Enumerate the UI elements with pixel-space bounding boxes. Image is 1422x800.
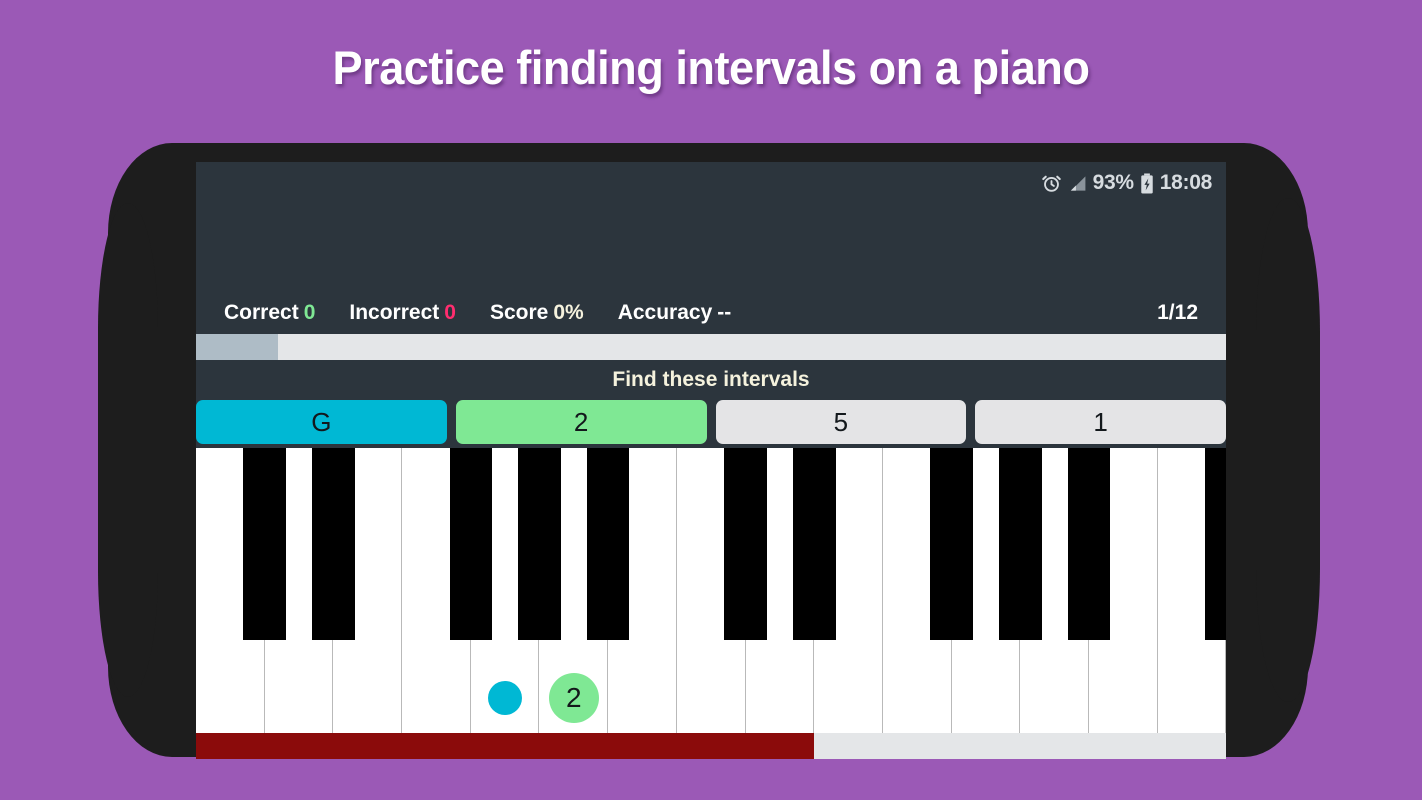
piano-black-key[interactable]	[518, 448, 561, 640]
interval-chip-1-label: G	[311, 407, 331, 438]
status-bar: 93% 18:08	[196, 162, 1226, 204]
root-note-marker	[488, 681, 522, 715]
battery-charging-icon	[1140, 173, 1154, 194]
stat-score: Score0%	[490, 301, 584, 325]
progress-bar	[196, 334, 1226, 360]
stat-score-label: Score	[490, 301, 548, 324]
interval-chip-4-label: 1	[1093, 407, 1107, 438]
stat-correct-label: Correct	[224, 301, 299, 324]
signal-bars-icon	[1068, 174, 1087, 193]
interval-chip-1[interactable]: G	[196, 400, 447, 444]
stat-accuracy-value: --	[717, 301, 731, 324]
stat-incorrect: Incorrect0	[349, 301, 456, 325]
piano-keyboard[interactable]: 2	[196, 448, 1226, 733]
battery-percentage: 93%	[1093, 171, 1134, 195]
interval-chip-3-label: 5	[834, 407, 848, 438]
piano-black-key[interactable]	[587, 448, 630, 640]
stat-incorrect-label: Incorrect	[349, 301, 439, 324]
bottom-progress-bar	[196, 733, 1226, 759]
piano-black-key[interactable]	[312, 448, 355, 640]
bottom-progress-fill	[196, 733, 814, 759]
piano-black-key[interactable]	[724, 448, 767, 640]
stat-accuracy: Accuracy--	[618, 301, 732, 325]
phone-screen: 93% 18:08 Correct0 Incorrect0 Score0%	[196, 162, 1226, 759]
stat-score-value: 0%	[553, 301, 583, 324]
progress-bar-fill	[196, 334, 278, 360]
interval-marker: 2	[549, 673, 599, 723]
piano-black-key[interactable]	[793, 448, 836, 640]
interval-chip-3[interactable]: 5	[716, 400, 967, 444]
prompt-text: Find these intervals	[196, 360, 1226, 400]
interval-chip-2-label: 2	[574, 407, 588, 438]
piano-black-key[interactable]	[1205, 448, 1226, 640]
stat-correct: Correct0	[224, 301, 315, 325]
interval-chip-4[interactable]: 1	[975, 400, 1226, 444]
interval-chip-2[interactable]: 2	[456, 400, 707, 444]
page-title: Practice finding intervals on a piano	[28, 40, 1393, 95]
alarm-clock-icon	[1041, 173, 1062, 194]
stat-correct-value: 0	[304, 301, 316, 324]
piano-black-key[interactable]	[450, 448, 493, 640]
piano-black-key[interactable]	[1068, 448, 1111, 640]
piano-black-key[interactable]	[930, 448, 973, 640]
question-counter: 1/12	[1157, 301, 1198, 325]
piano-black-key[interactable]	[999, 448, 1042, 640]
stat-incorrect-value: 0	[444, 301, 456, 324]
stat-accuracy-label: Accuracy	[618, 301, 713, 324]
phone-device-frame: 93% 18:08 Correct0 Incorrect0 Score0%	[108, 143, 1308, 757]
interval-chip-row: G 2 5 1	[196, 400, 1226, 448]
stats-row: Correct0 Incorrect0 Score0% Accuracy-- 1…	[196, 294, 1226, 332]
piano-black-key[interactable]	[243, 448, 286, 640]
clock-time: 18:08	[1160, 171, 1212, 195]
